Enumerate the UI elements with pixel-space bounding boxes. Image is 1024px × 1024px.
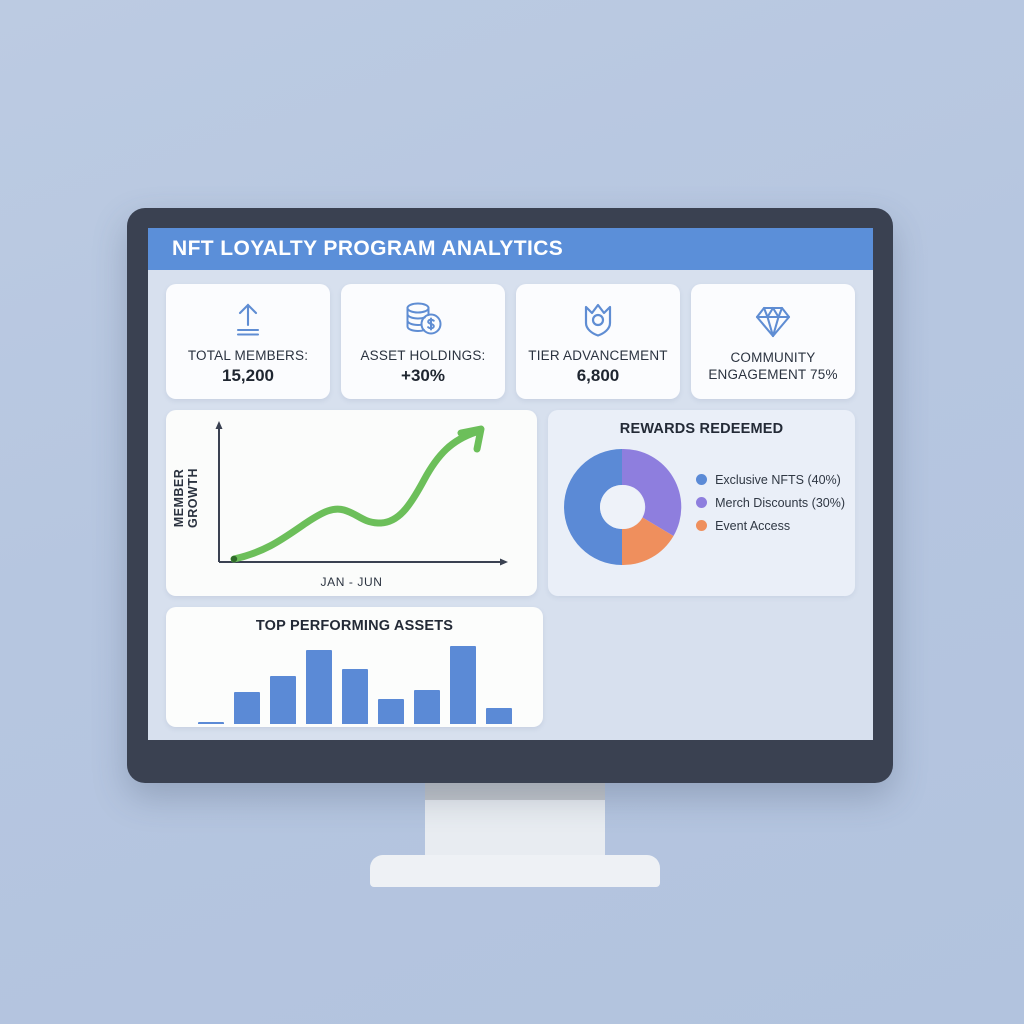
monitor-stand-base <box>370 855 660 887</box>
chart-x-axis-label: JAN - JUN <box>166 575 537 589</box>
kpi-card-asset-holdings[interactable]: ASSET HOLDINGS: +30% <box>341 284 505 399</box>
legend-item[interactable]: Event Access <box>696 519 845 533</box>
bar[interactable] <box>306 650 332 724</box>
member-growth-line-chart <box>166 410 543 596</box>
bar-chart-title: TOP PERFORMING ASSETS <box>166 618 543 634</box>
coins-dollar-icon <box>402 297 444 341</box>
middle-chart-row: MEMBER GROWTH JAN - JUN <box>166 410 855 596</box>
legend-item[interactable]: Exclusive NFTS (40%) <box>696 473 845 487</box>
legend-color-swatch <box>696 520 707 531</box>
donut-chart-content: Exclusive NFTS (40%) Merch Discounts (30… <box>558 443 845 571</box>
kpi-value: 6,800 <box>577 366 620 386</box>
bar-chart <box>166 640 543 724</box>
bar[interactable] <box>342 669 368 724</box>
monitor-stand-neck-shadow <box>425 783 605 800</box>
bar[interactable] <box>414 690 440 724</box>
donut-chart-title: REWARDS REDEEMED <box>558 421 845 437</box>
scene: NFT LOYALTY PROGRAM ANALYTICS <box>0 0 1024 1024</box>
kpi-card-tier-advancement[interactable]: TIER ADVANCEMENT 6,800 <box>516 284 680 399</box>
legend-label: Event Access <box>715 519 790 533</box>
monitor-screen: NFT LOYALTY PROGRAM ANALYTICS <box>148 228 873 740</box>
kpi-card-row: TOTAL MEMBERS: 15,200 <box>166 284 855 399</box>
legend-item[interactable]: Merch Discounts (30%) <box>696 496 845 510</box>
legend-color-swatch <box>696 497 707 508</box>
kpi-card-total-members[interactable]: TOTAL MEMBERS: 15,200 <box>166 284 330 399</box>
monitor-bezel: NFT LOYALTY PROGRAM ANALYTICS <box>127 208 893 783</box>
shield-crown-icon <box>578 297 618 341</box>
member-growth-chart-panel[interactable]: MEMBER GROWTH JAN - JUN <box>166 410 537 596</box>
donut-chart-legend: Exclusive NFTS (40%) Merch Discounts (30… <box>696 473 845 542</box>
upload-arrow-icon <box>228 297 268 341</box>
legend-color-swatch <box>696 474 707 485</box>
legend-label: Exclusive NFTS (40%) <box>715 473 841 487</box>
page-title: NFT LOYALTY PROGRAM ANALYTICS <box>172 237 563 261</box>
kpi-card-community-engagement[interactable]: COMMUNITY ENGAGEMENT 75% <box>691 284 855 399</box>
bar[interactable] <box>198 722 224 724</box>
bar[interactable] <box>486 708 512 724</box>
kpi-label: COMMUNITY <box>730 350 815 367</box>
rewards-redeemed-panel[interactable]: REWARDS REDEEMED <box>548 410 855 596</box>
donut-chart[interactable] <box>558 443 686 571</box>
legend-label: Merch Discounts (30%) <box>715 496 845 510</box>
kpi-value: +30% <box>401 366 445 386</box>
top-performing-assets-panel[interactable]: TOP PERFORMING ASSETS <box>166 607 543 727</box>
kpi-label: ASSET HOLDINGS: <box>360 348 485 365</box>
bar[interactable] <box>234 692 260 724</box>
dashboard-body: TOTAL MEMBERS: 15,200 <box>148 270 873 727</box>
bar[interactable] <box>270 676 296 724</box>
diamond-gem-icon <box>751 299 795 343</box>
kpi-label: TOTAL MEMBERS: <box>188 348 308 365</box>
dashboard-title-bar: NFT LOYALTY PROGRAM ANALYTICS <box>148 228 873 270</box>
bar[interactable] <box>378 699 404 724</box>
kpi-value: ENGAGEMENT 75% <box>708 367 837 384</box>
kpi-label: TIER ADVANCEMENT <box>528 348 667 365</box>
bar[interactable] <box>450 646 476 724</box>
kpi-value: 15,200 <box>222 366 274 386</box>
